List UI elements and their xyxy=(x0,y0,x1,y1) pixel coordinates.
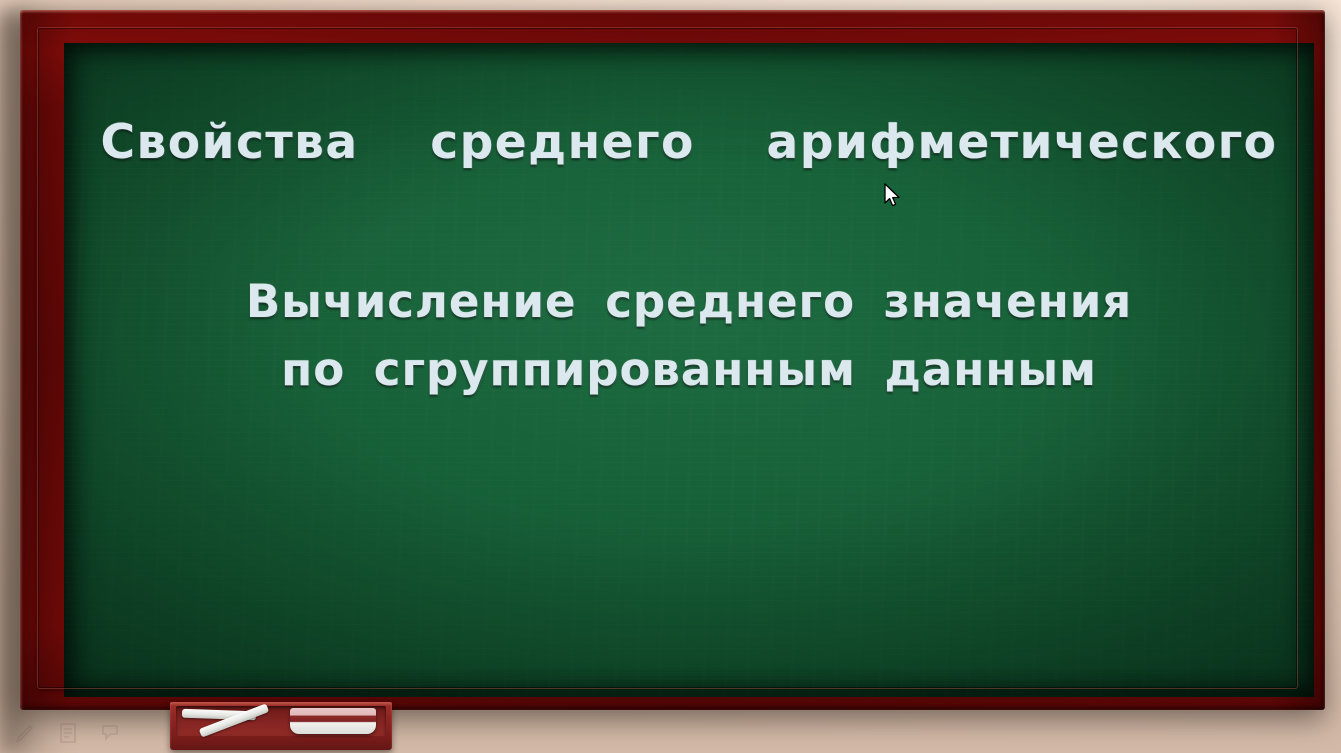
document-icon[interactable] xyxy=(58,722,78,744)
chalkboard-surface[interactable]: Свойства среднего арифметического Вычисл… xyxy=(64,43,1314,697)
ghost-toolbar xyxy=(14,722,120,744)
chalkboard-frame: Свойства среднего арифметического Вычисл… xyxy=(20,10,1325,710)
slide-stage: Свойства среднего арифметического Вычисл… xyxy=(0,0,1341,753)
subtitle-line-2: по сгруппированным данным xyxy=(64,343,1314,396)
pointer-icon[interactable] xyxy=(100,722,120,744)
board-eraser-icon[interactable] xyxy=(290,708,376,734)
chalk-tray xyxy=(170,702,392,750)
page-title: Свойства среднего арифметического xyxy=(64,115,1314,170)
pen-icon[interactable] xyxy=(14,722,36,744)
subtitle-line-1: Вычисление среднего значения xyxy=(64,275,1314,328)
slide-text-layer: Свойства среднего арифметического Вычисл… xyxy=(64,43,1314,697)
